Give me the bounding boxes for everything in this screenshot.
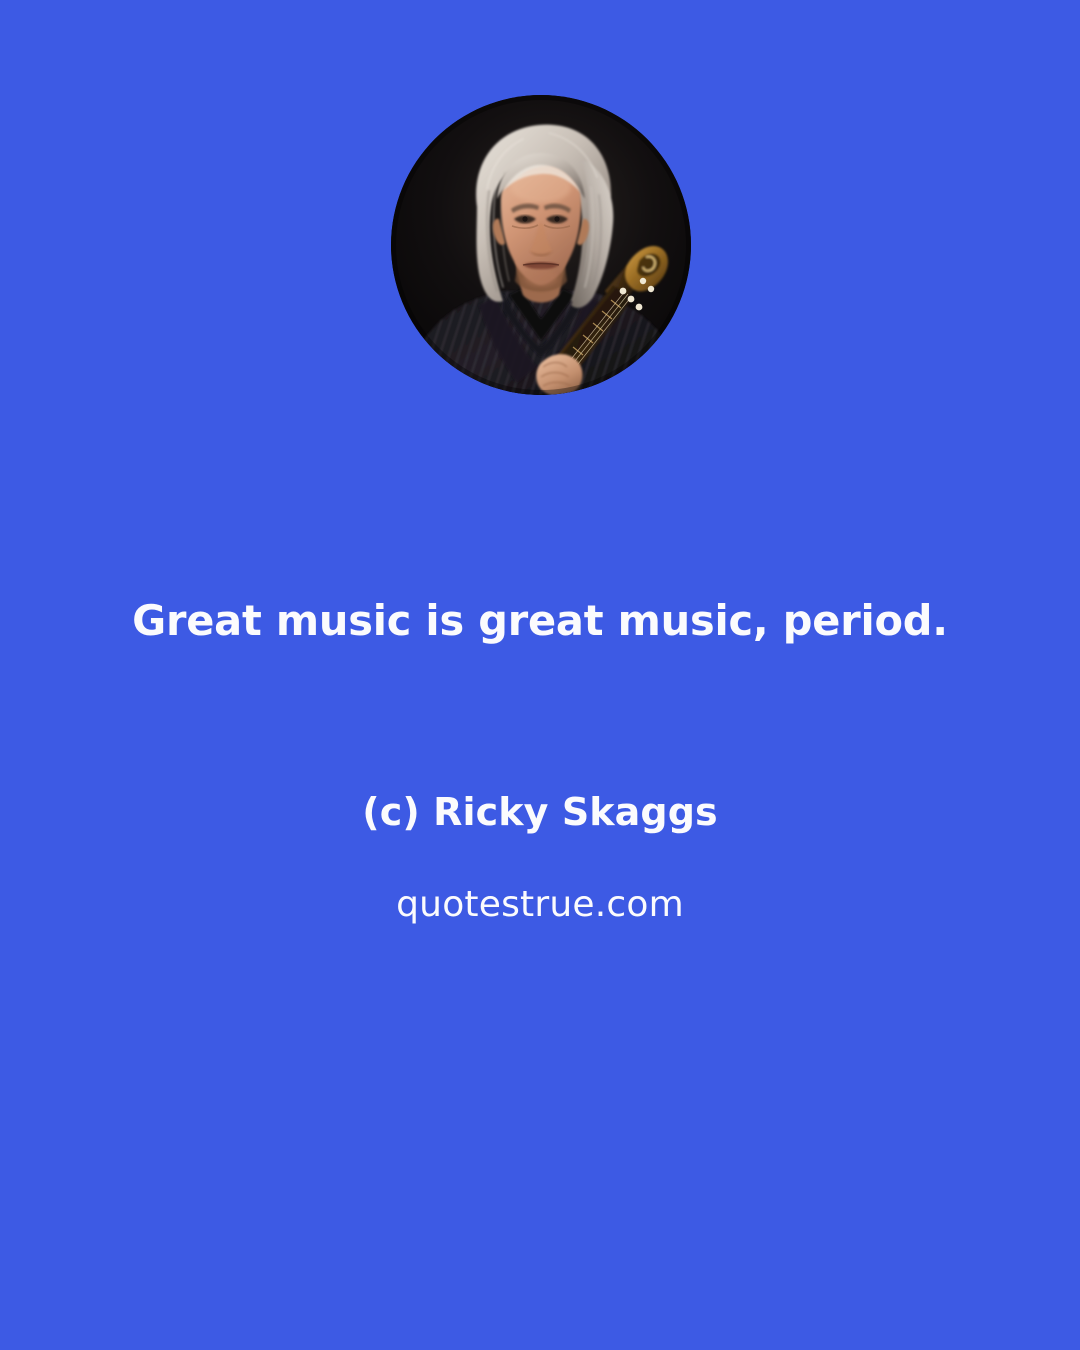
source-website: quotestrue.com [0,878,1080,932]
portrait-avatar [391,95,691,395]
ricky-skaggs-portrait-image [391,95,691,395]
quote-card: Great music is great music, period. (c) … [0,0,1080,1350]
quote-attribution: (c) Ricky Skaggs [0,785,1080,839]
quote-text: Great music is great music, period. [0,589,1080,653]
